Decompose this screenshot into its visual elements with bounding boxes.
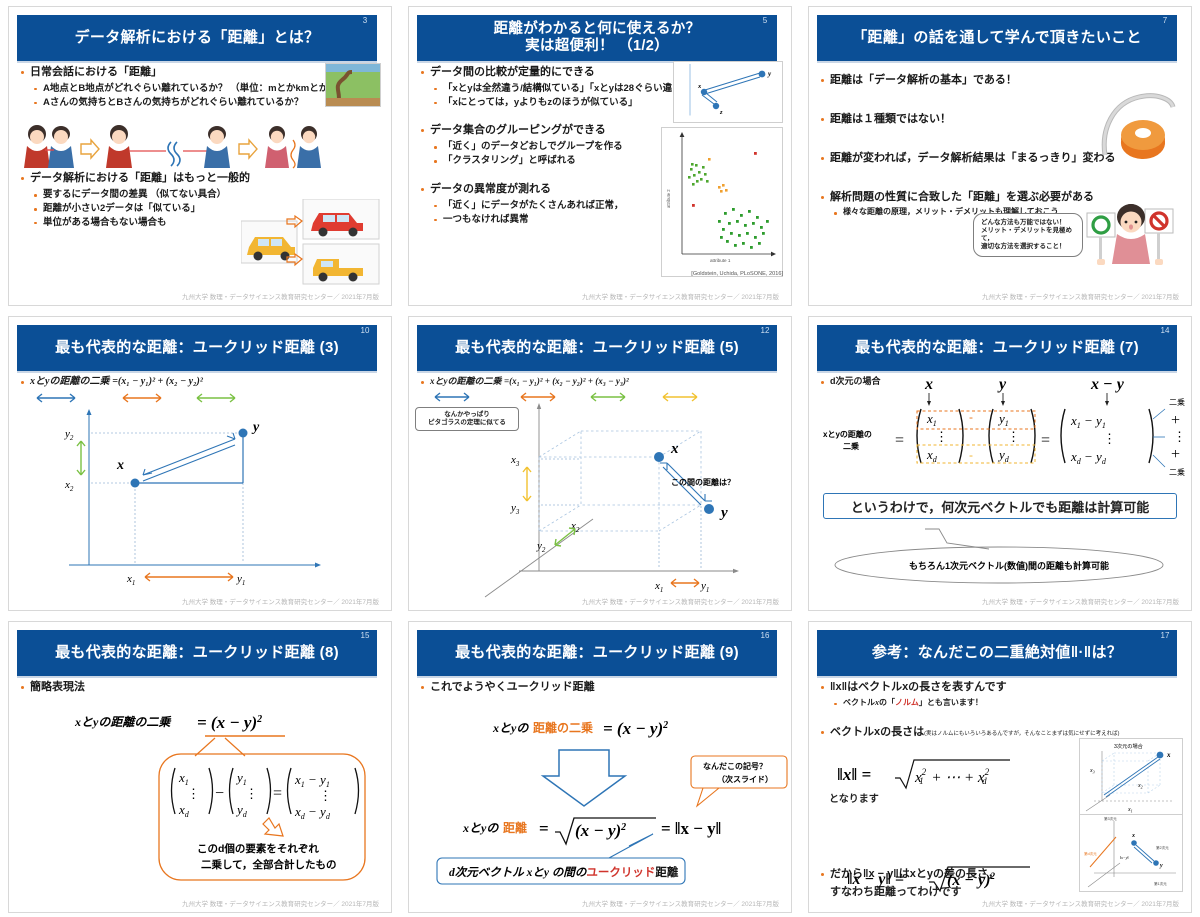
slide-footer: 九州大学 数理・データサイエンス教育研究センター／ 2021年7月版	[582, 596, 779, 606]
slide-17-title: 参考：なんだこの二重絶対値‖·‖は？	[872, 644, 1122, 661]
slide-10-title: 最も代表的な距離：ユークリッド距離 (3)	[55, 339, 339, 356]
svg-text:y: y	[719, 505, 728, 521]
slide-7[interactable]: 「距離」の話を通して学んで頂きたいこと 7 距離は「データ解析の基本」である！ …	[800, 0, 1200, 310]
svg-text:-: -	[969, 448, 973, 462]
slide-footer: 九州大学 数理・データサイエンス教育研究センター／ 2021年7月版	[582, 898, 779, 908]
slide-15-frame: 最も代表的な距離：ユークリッド距離 (8) 15 簡略表現法 xとyの距離の二乗…	[8, 621, 392, 913]
aside-note: (実はノルムにもいろいろあるんですが，そんなことまずは気にせずに考えれば)	[924, 731, 1119, 737]
svg-text:=: =	[273, 785, 282, 802]
slide-17-header: 参考：なんだこの二重絶対値‖·‖は？ 17	[817, 630, 1177, 676]
svg-text:x: x	[1131, 833, 1135, 839]
bubble-line-2: メリット・デメリットを見極めて，	[981, 227, 1075, 243]
norm-3d-diagram: 3次元の場合 x x3 x	[1079, 738, 1183, 816]
svg-text:⋮: ⋮	[1007, 429, 1020, 444]
formula-range-arrows	[25, 391, 305, 405]
svg-text:第d次元: 第d次元	[1084, 851, 1097, 856]
slide-7-frame: 「距離」の話を通して学んで頂きたいこと 7 距離は「データ解析の基本」である！ …	[808, 6, 1192, 306]
svg-text:(x − y)2: (x − y)2	[947, 871, 995, 889]
slide-16[interactable]: 最も代表的な距離：ユークリッド距離 (9) 16 これでようやくユークリッド距離…	[400, 615, 800, 917]
slide-5-body: データ間の比較が定量的にできる 「xとyは全然違う/結構似ている」「xとyは28…	[419, 65, 781, 287]
svg-text:xとyの距離の二乗: xとyの距離の二乗	[74, 715, 171, 729]
formula-headline: xとyの距離の二乗 =(x₁ − y₁)² + (x₂ − y₂)²	[19, 375, 381, 389]
slide-12-header: 最も代表的な距離：ユークリッド距離 (5) 12	[417, 325, 777, 371]
slide-15-body: 簡略表現法 xとyの距離の二乗 = (x − y)2 x1 ⋮ xd	[19, 680, 381, 894]
slide-14-page-number: 14	[1153, 325, 1177, 347]
slide-16-header-rule	[417, 676, 777, 678]
slide-footer: 九州大学 数理・データサイエンス教育研究センター／ 2021年7月版	[182, 596, 379, 606]
note-line-2: 二乗して，全部合計したもの	[201, 858, 336, 871]
svg-text:= ‖x − y‖: = ‖x − y‖	[661, 819, 721, 838]
euclidean-2d-diagram: y x y2 x2 x1 y1	[29, 407, 329, 587]
slide-15[interactable]: 最も代表的な距離：ユークリッド距離 (8) 15 簡略表現法 xとyの距離の二乗…	[0, 615, 400, 917]
bullet-length-text: ベクトルxの長さは	[830, 726, 924, 738]
slide-footer: 九州大学 数理・データサイエンス教育研究センター／ 2021年7月版	[982, 291, 1179, 301]
slide-footer: 九州大学 数理・データサイエンス教育研究センター／ 2021年7月版	[182, 898, 379, 908]
norm-text-suffix: 」とも言います！	[919, 698, 983, 707]
svg-text:距離の二乗: 距離の二乗	[533, 720, 593, 735]
slide-17[interactable]: 参考：なんだこの二重絶対値‖·‖は？ 17 ‖x‖はベクトルxの長さを表すんです…	[800, 615, 1200, 917]
bubble-line-1: なんだこの記号？	[703, 761, 767, 771]
svg-text:y: y	[767, 70, 772, 78]
svg-text:=: =	[539, 819, 549, 838]
svg-text:x3: x3	[1089, 768, 1095, 775]
slide-5-header: 距離がわかると何に使えるか？ 実は超便利！ （1/2） 5	[417, 15, 777, 61]
slide-footer: 九州大学 数理・データサイエンス教育研究センター／ 2021年7月版	[182, 291, 379, 301]
svg-text:y2: y2	[536, 540, 546, 554]
slide-15-title: 最も代表的な距離：ユークリッド距離 (8)	[55, 644, 339, 661]
slide-10-header: 最も代表的な距離：ユークリッド距離 (3) 10	[17, 325, 377, 371]
svg-text:=: =	[895, 432, 904, 449]
svg-text:y1: y1	[700, 580, 709, 594]
svg-text:二乗: 二乗	[1169, 467, 1185, 477]
svg-text:y: y	[1159, 863, 1163, 869]
svg-text:3次元の場合: 3次元の場合	[1114, 742, 1144, 750]
svg-text:z: z	[719, 109, 723, 116]
svg-text:⋮: ⋮	[1103, 431, 1116, 446]
slide-12-title: 最も代表的な距離：ユークリッド距離 (5)	[455, 339, 739, 356]
norm-accent: ノルム	[895, 698, 919, 707]
svg-text:二乗: 二乗	[843, 441, 859, 451]
slide-17-body: ‖x‖はベクトルxの長さを表すんです ベクトルxの「ノルム」とも言います！ ベク…	[819, 680, 1181, 894]
svg-text:x1: x1	[126, 573, 135, 587]
svg-text:⋮: ⋮	[187, 786, 200, 801]
formula-expression: =(x₁ − y₁)² + (x₂ − y₂)²	[112, 376, 203, 387]
slide-10-page-number: 10	[353, 325, 377, 347]
slide-7-header: 「距離」の話を通して学んで頂きたいこと 7	[817, 15, 1177, 61]
conclusion-box: というわけで，何次元ベクトルでも距離は計算可能	[823, 493, 1177, 519]
svg-text:+: +	[1171, 412, 1180, 429]
svg-text:y3: y3	[510, 502, 520, 516]
svg-text:x2: x2	[1137, 783, 1143, 790]
slide-5[interactable]: 距離がわかると何に使えるか？ 実は超便利！ （1/2） 5 データ間の比較が定量…	[400, 0, 800, 310]
ellipse-note-text: もちろん1次元ベクトル(数値)間の距離も計算可能	[909, 560, 1109, 571]
slide-16-page-number: 16	[753, 630, 777, 652]
slide-footer: 九州大学 数理・データサイエンス教育研究センター／ 2021年7月版	[982, 596, 1179, 606]
svg-text:第3次元: 第3次元	[1104, 816, 1117, 821]
svg-text:x − y: x − y	[1090, 376, 1125, 393]
river-map-illustration	[325, 63, 381, 107]
slide-5-title-line2: 実は超便利！ （1/2）	[494, 38, 701, 55]
slide-12-body: xとyの距離の二乗 =(x₁ − y₁)² + (x₂ − y₂)² + (x₃…	[419, 375, 781, 592]
svg-text:xとyの距離の: xとyの距離の	[823, 429, 872, 439]
svg-text:x2: x2	[64, 479, 74, 493]
clustering-scatter-plot: attribute 2 attribute 1	[661, 127, 783, 277]
svg-text:xとyの: xとyの	[462, 821, 499, 835]
bullet-l1: 簡略表現法	[19, 680, 381, 695]
svg-text:x21 + ⋯ + x2d: x21 + ⋯ + x2d	[914, 767, 990, 786]
bubble-line-2: （次スライド）	[717, 774, 773, 784]
slide-3-title: データ解析における「距離」とは？	[75, 29, 320, 46]
svg-text:y1: y1	[997, 411, 1009, 428]
slide-3-frame: データ解析における「距離」とは？ 3 日常会話における「距離」 A地点とB地点が…	[8, 6, 392, 306]
bullet-l2-norm: ベクトルxの「ノルム」とも言います！	[831, 698, 1181, 709]
euclidean-3d-diagram: x y この間の距離は？ x3 y3 x2 y2 x1 y1	[459, 401, 789, 601]
speech-bubble: どんな方法も万能ではない！ メリット・デメリットを見極めて， 適切な方法を選択す…	[973, 213, 1083, 258]
norm-text-mid: の「	[879, 698, 895, 707]
note-line-1: このd個の要素をそれぞれ	[197, 842, 319, 855]
svg-text:xとyの: xとyの	[492, 721, 529, 735]
slide-10[interactable]: 最も代表的な距離：ユークリッド距離 (3) 10 xとyの距離の二乗 =(x₁ …	[0, 310, 400, 615]
formula-headline: xとyの距離の二乗 =(x₁ − y₁)² + (x₂ − y₂)² + (x₃…	[419, 375, 781, 387]
slide-16-header: 最も代表的な距離：ユークリッド距離 (9) 16	[417, 630, 777, 676]
person-with-signs-illustration	[1085, 201, 1179, 273]
svg-text:y1: y1	[235, 770, 247, 787]
slide-14-frame: 最も代表的な距離：ユークリッド距離 (7) 14 d次元の場合 x y x − …	[808, 316, 1192, 611]
svg-text:x1 − y1: x1 − y1	[294, 772, 330, 789]
ellipse-callout: もちろん1次元ベクトル(数値)間の距離も計算可能	[829, 527, 1169, 587]
scatter-citation: [Goldstein, Uchida, PLoSONE, 2016]	[691, 271, 783, 277]
svg-text:x1: x1	[926, 411, 937, 428]
simplified-notation-equation: xとyの距離の二乗 = (x − y)2 x1 ⋮ xd −	[19, 702, 399, 902]
slide-12-header-rule	[417, 371, 777, 373]
slide-7-title: 「距離」の話を通して学んで頂きたいこと	[852, 29, 1142, 46]
svg-text:距離: 距離	[503, 820, 527, 835]
slide-10-frame: 最も代表的な距離：ユークリッド距離 (3) 10 xとyの距離の二乗 =(x₁ …	[8, 316, 392, 611]
svg-text:x1 − y1: x1 − y1	[1070, 413, 1106, 430]
svg-text:xd − yd: xd − yd	[294, 804, 331, 821]
bullet-l1: データ解析における「距離」はもっと一般的	[19, 171, 381, 186]
svg-text:⋮: ⋮	[245, 786, 258, 801]
svg-text:y: y	[997, 376, 1007, 393]
svg-text:yd: yd	[235, 802, 248, 819]
svg-text:‖x−y‖: ‖x−y‖	[1120, 855, 1129, 860]
svg-text:−: −	[215, 785, 224, 802]
svg-text:=: =	[1041, 432, 1050, 449]
norm-equation: ‖x‖ = x21 + ⋯ + x2d	[835, 756, 1035, 790]
slide-14-body: d次元の場合 x y x − y xとyの距離の	[819, 375, 1181, 592]
slide-5-title-line1: 距離がわかると何に使えるか？	[494, 21, 701, 38]
svg-text:第2次元: 第2次元	[1156, 845, 1169, 850]
slide-7-page-number: 7	[1153, 15, 1177, 37]
svg-text:xd − yd: xd − yd	[1070, 449, 1107, 466]
slide-15-header: 最も代表的な距離：ユークリッド距離 (8) 15	[17, 630, 377, 676]
slide-14[interactable]: 最も代表的な距離：ユークリッド距離 (7) 14 d次元の場合 x y x − …	[800, 310, 1200, 615]
slide-5-frame: 距離がわかると何に使えるか？ 実は超便利！ （1/2） 5 データ間の比較が定量…	[408, 6, 792, 306]
slide-16-frame: 最も代表的な距離：ユークリッド距離 (9) 16 これでようやくユークリッド距離…	[408, 621, 792, 913]
bullet-l1: これでようやくユークリッド距離	[419, 680, 781, 695]
equation-tail: となります	[829, 790, 879, 805]
slide-3-page-number: 3	[353, 15, 377, 37]
slide-14-title: 最も代表的な距離：ユークリッド距離 (7)	[855, 339, 1139, 356]
svg-text:= (x − y)2: = (x − y)2	[197, 713, 262, 732]
slide-3-body: 日常会話における「距離」 A地点とB地点がどれぐらい離れているか？ （単位：mと…	[19, 65, 381, 287]
euclidean-distance-derivation: xとyの 距離の二乗 = (x − y)2 xとyの 距離 = (x − y)2…	[419, 706, 799, 896]
slide-17-header-rule	[817, 676, 1177, 678]
svg-text:y1: y1	[236, 573, 245, 587]
svg-text:x: x	[697, 83, 702, 90]
slide-17-frame: 参考：なんだこの二重絶対値‖·‖は？ 17 ‖x‖はベクトルxの長さを表すんです…	[808, 621, 1192, 913]
slide-16-body: これでようやくユークリッド距離 xとyの 距離の二乗 = (x − y)2 xと…	[419, 680, 781, 894]
cars-similarity-illustration	[241, 199, 381, 285]
svg-text:attribute 2: attribute 2	[666, 189, 671, 208]
slide-15-header-rule	[17, 676, 377, 678]
svg-text:x: x	[670, 441, 679, 457]
norm-text-prefix: ベクトル	[843, 698, 875, 707]
svg-text:‖x‖ =: ‖x‖ =	[837, 765, 871, 784]
svg-text:-: -	[969, 410, 973, 424]
slide-5-page-number: 5	[753, 15, 777, 37]
slide-7-body: 距離は「データ解析の基本」である！ 距離は１種類ではない！ 距離が変われば，デー…	[819, 65, 1181, 287]
slide-3[interactable]: データ解析における「距離」とは？ 3 日常会話における「距離」 A地点とB地点が…	[0, 0, 400, 310]
svg-text:⋮: ⋮	[1173, 429, 1186, 444]
svg-text:第1次元: 第1次元	[1154, 881, 1167, 886]
svg-text:yd: yd	[997, 447, 1010, 464]
slide-3-header: データ解析における「距離」とは？ 3	[17, 15, 377, 61]
tape-measure-illustration	[1099, 89, 1177, 161]
svg-text:xd: xd	[926, 447, 938, 464]
vector-subtraction-equation: x y x − y xとyの距離の 二乗 =	[819, 375, 1199, 487]
slide-12[interactable]: 最も代表的な距離：ユークリッド距離 (5) 12 xとyの距離の二乗 =(x₁ …	[400, 310, 800, 615]
svg-text:y2: y2	[64, 428, 74, 442]
slide-17-page-number: 17	[1153, 630, 1177, 652]
slide-footer: 九州大学 数理・データサイエンス教育研究センター／ 2021年7月版	[982, 898, 1179, 908]
svg-text:⋮: ⋮	[319, 788, 332, 803]
distance-norm-equation: ‖x − y‖ = (x − y)2	[845, 862, 1045, 892]
bullet-l1: 距離は「データ解析の基本」である！	[819, 73, 1181, 88]
slide-10-header-rule	[17, 371, 377, 373]
svg-text:= (x − y)2: = (x − y)2	[603, 719, 668, 738]
svg-text:x: x	[1166, 751, 1171, 759]
formula-label: xとyの距離の二乗	[30, 376, 109, 387]
slide-10-body: xとyの距離の二乗 =(x₁ − y₁)² + (x₂ − y₂)²	[19, 375, 381, 592]
svg-text:x3: x3	[510, 454, 520, 468]
svg-text:x: x	[116, 458, 124, 473]
svg-text:x: x	[924, 376, 933, 393]
svg-text:xd: xd	[178, 802, 190, 819]
slide-12-frame: 最も代表的な距離：ユークリッド距離 (5) 12 xとyの距離の二乗 =(x₁ …	[408, 316, 792, 611]
difference-vector-diagram: 第3次元 第2次元 第1次元 第d次元 x y ‖x−y‖	[1079, 814, 1183, 892]
bullet-l1: ‖x‖はベクトルxの長さを表すんです	[819, 680, 1181, 695]
svg-text:二乗: 二乗	[1169, 397, 1185, 407]
svg-text:x1: x1	[1127, 807, 1133, 814]
svg-text:+: +	[1171, 446, 1180, 463]
svg-text:x1: x1	[654, 580, 663, 594]
slide-15-page-number: 15	[353, 630, 377, 652]
slide-5-title: 距離がわかると何に使えるか？ 実は超便利！ （1/2）	[494, 21, 701, 54]
formula-label: xとyの距離の二乗	[430, 376, 502, 386]
slide-12-page-number: 12	[753, 325, 777, 347]
slide-16-title: 最も代表的な距離：ユークリッド距離 (9)	[455, 644, 739, 661]
slide-7-header-rule	[817, 61, 1177, 63]
slide-14-header-rule	[817, 371, 1177, 373]
slide-footer: 九州大学 数理・データサイエンス教育研究センター／ 2021年7月版	[582, 291, 779, 301]
svg-text:(x − y)2: (x − y)2	[575, 821, 626, 840]
vector-distance-diagram: y x z	[673, 61, 783, 123]
svg-text:attribute 1: attribute 1	[710, 258, 731, 263]
svg-text:⋮: ⋮	[935, 429, 948, 444]
slide-14-header: 最も代表的な距離：ユークリッド距離 (7) 14	[817, 325, 1177, 371]
slide-3-header-rule	[17, 61, 377, 63]
distance-note: この間の距離は？	[671, 477, 735, 487]
svg-text:y: y	[251, 420, 260, 435]
svg-text:d次元ベクトル xとy の間のユークリッド距離: d次元ベクトル xとy の間のユークリッド距離	[449, 865, 679, 879]
svg-text:x1: x1	[178, 770, 189, 787]
formula-expression: =(x₁ − y₁)² + (x₂ − y₂)² + (x₃ − y₃)²	[504, 376, 629, 386]
svg-text:‖x − y‖ =: ‖x − y‖ =	[847, 871, 904, 888]
people-distance-illustration	[21, 120, 351, 178]
bubble-line-1: どんな方法も万能ではない！	[981, 219, 1075, 227]
bubble-line-3: 適切な方法を選択すること！	[981, 243, 1075, 251]
conclusion-text: というわけで，何次元ベクトルでも距離は計算可能	[851, 497, 1149, 516]
slide-grid: データ解析における「距離」とは？ 3 日常会話における「距離」 A地点とB地点が…	[0, 0, 1200, 917]
